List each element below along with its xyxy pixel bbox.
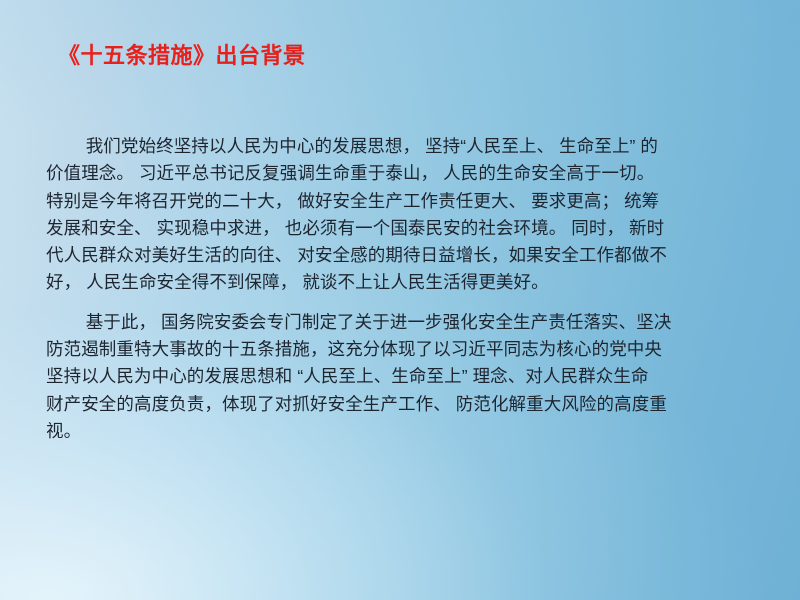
- paragraph-2-line-4: 财产安全的高度负责，体现了对抓好安全生产工作、 防范化解重大风险的高度重: [46, 391, 758, 418]
- body-text-block: 我们党始终坚持以人民为中心的发展思想， 坚持“人民至上、 生命至上” 的 价值理…: [46, 133, 758, 445]
- paragraph-1: 我们党始终坚持以人民为中心的发展思想， 坚持“人民至上、 生命至上” 的 价值理…: [46, 133, 758, 297]
- paragraph-2-line-1: 基于此， 国务院安委会专门制定了关于进一步强化安全生产责任落实、坚决: [46, 309, 758, 336]
- paragraph-1-line-1: 我们党始终坚持以人民为中心的发展思想， 坚持“人民至上、 生命至上” 的: [46, 133, 758, 160]
- slide-canvas: 《十五条措施》出台背景 我们党始终坚持以人民为中心的发展思想， 坚持“人民至上、…: [0, 0, 800, 600]
- paragraph-1-line-5: 代人民群众对美好生活的向往、 对安全感的期待日益增长，如果安全工作都做不: [46, 242, 758, 269]
- paragraph-2-line-2: 防范遏制重特大事故的十五条措施，这充分体现了以习近平同志为核心的党中央: [46, 336, 758, 363]
- paragraph-1-line-2: 价值理念。 习近平总书记反复强调生命重于泰山， 人民的生命安全高于一切。: [46, 160, 758, 187]
- paragraph-1-line-6: 好， 人民生命安全得不到保障， 就谈不上让人民生活得更美好。: [46, 269, 758, 296]
- slide-content: 《十五条措施》出台背景 我们党始终坚持以人民为中心的发展思想， 坚持“人民至上、…: [0, 0, 800, 600]
- paragraph-2-line-3: 坚持以人民为中心的发展思想和 “人民至上、生命至上” 理念、对人民群众生命: [46, 363, 758, 390]
- paragraph-2: 基于此， 国务院安委会专门制定了关于进一步强化安全生产责任落实、坚决 防范遏制重…: [46, 309, 758, 445]
- paragraph-1-line-4: 发展和安全、 实现稳中求进， 也必须有一个国泰民安的社会环境。 同时， 新时: [46, 215, 758, 242]
- paragraph-1-line-3: 特别是今年将召开党的二十大， 做好安全生产工作责任更大、 要求更高； 统筹: [46, 188, 758, 215]
- paragraph-2-line-5: 视。: [46, 418, 758, 445]
- page-title: 《十五条措施》出台背景: [58, 42, 306, 70]
